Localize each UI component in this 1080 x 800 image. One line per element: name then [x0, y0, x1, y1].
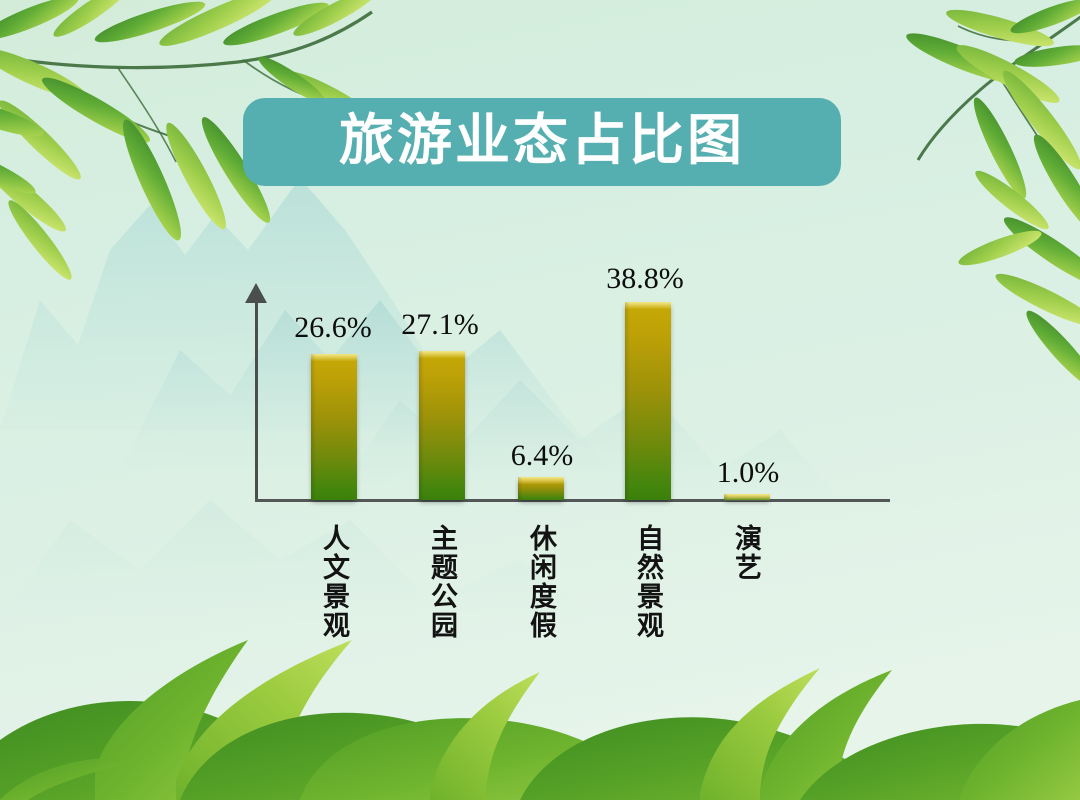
page-title: 旅游业态占比图 — [339, 113, 745, 172]
x-axis-category-label: 演艺 — [732, 524, 759, 582]
bar-value-label: 38.8% — [565, 262, 725, 296]
x-axis-category-label: 休闲度假 — [527, 524, 554, 640]
bar-value-label: 1.0% — [668, 456, 828, 490]
x-axis-category-label: 自然景观 — [634, 524, 661, 640]
chart-title-banner: 旅游业态占比图 — [243, 98, 841, 186]
x-axis-category-label: 主题公园 — [428, 524, 455, 640]
bar-column[interactable] — [518, 477, 564, 500]
bar-column[interactable] — [311, 354, 357, 500]
bar-value-label: 27.1% — [360, 308, 520, 342]
bar-column[interactable] — [724, 494, 770, 500]
bar-value-label: 6.4% — [462, 439, 622, 473]
x-axis-category-label: 人文景观 — [320, 524, 347, 640]
bar-column[interactable] — [625, 302, 671, 500]
bar-column[interactable] — [419, 351, 465, 500]
